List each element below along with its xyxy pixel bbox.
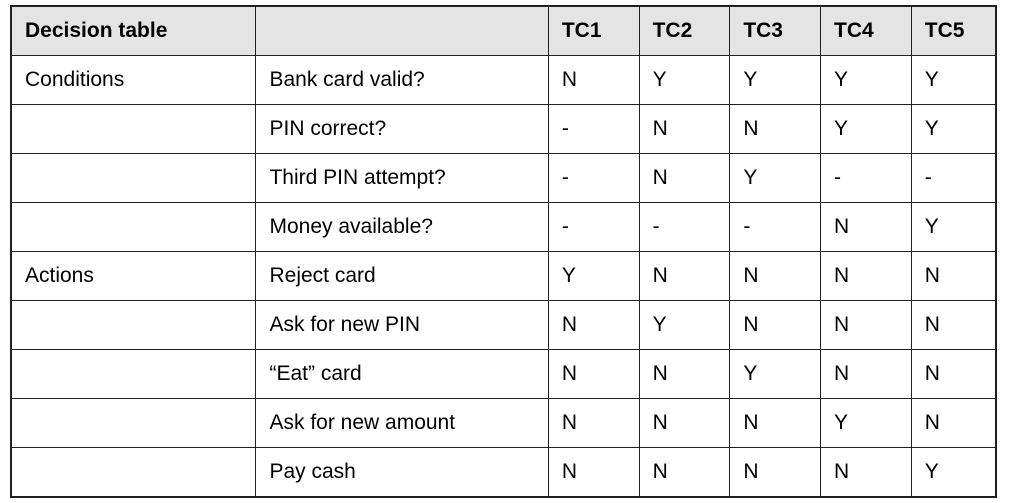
table-row: PIN correct? - N N Y Y [11, 105, 996, 154]
cell-tc3: N [730, 252, 821, 301]
cell-tc4: N [821, 252, 912, 301]
header-row: Decision table TC1 TC2 TC3 TC4 TC5 [11, 6, 996, 56]
row-item-label: PIN correct? [256, 105, 548, 154]
cell-tc5: Y [911, 448, 996, 498]
cell-tc4: Y [821, 105, 912, 154]
cell-tc5: Y [911, 203, 996, 252]
row-group-label [11, 154, 256, 203]
cell-tc5: N [911, 252, 996, 301]
cell-tc3: Y [730, 56, 821, 105]
cell-tc5: N [911, 350, 996, 399]
cell-tc5: N [911, 301, 996, 350]
table-row: Conditions Bank card valid? N Y Y Y Y [11, 56, 996, 105]
table-row: Actions Reject card Y N N N N [11, 252, 996, 301]
table-row: Ask for new PIN N Y N N N [11, 301, 996, 350]
cell-tc1: N [548, 350, 639, 399]
cell-tc2: N [639, 350, 730, 399]
cell-tc1: N [548, 448, 639, 498]
row-item-label: Bank card valid? [256, 56, 548, 105]
table-row: Ask for new amount N N N Y N [11, 399, 996, 448]
cell-tc3: N [730, 301, 821, 350]
cell-tc2: N [639, 399, 730, 448]
table-row: “Eat” card N N Y N N [11, 350, 996, 399]
cell-tc3: N [730, 448, 821, 498]
cell-tc2: - [639, 203, 730, 252]
row-group-label: Conditions [11, 56, 256, 105]
cell-tc4: N [821, 350, 912, 399]
cell-tc4: Y [821, 399, 912, 448]
row-group-label [11, 448, 256, 498]
cell-tc5: - [911, 154, 996, 203]
cell-tc1: Y [548, 252, 639, 301]
header-cell-tc4: TC4 [821, 6, 912, 56]
cell-tc2: N [639, 154, 730, 203]
row-group-label [11, 350, 256, 399]
row-item-label: “Eat” card [256, 350, 548, 399]
table-row: Money available? - - - N Y [11, 203, 996, 252]
cell-tc2: Y [639, 56, 730, 105]
header-cell-tc5: TC5 [911, 6, 996, 56]
cell-tc1: - [548, 105, 639, 154]
cell-tc1: - [548, 154, 639, 203]
row-item-label: Ask for new PIN [256, 301, 548, 350]
cell-tc3: - [730, 203, 821, 252]
table-row: Third PIN attempt? - N Y - - [11, 154, 996, 203]
header-cell-item [256, 6, 548, 56]
cell-tc3: Y [730, 350, 821, 399]
cell-tc1: N [548, 301, 639, 350]
cell-tc2: N [639, 448, 730, 498]
cell-tc2: N [639, 252, 730, 301]
row-item-label: Money available? [256, 203, 548, 252]
cell-tc5: Y [911, 56, 996, 105]
cell-tc3: N [730, 399, 821, 448]
header-cell-tc1: TC1 [548, 6, 639, 56]
table-body: Conditions Bank card valid? N Y Y Y Y PI… [11, 56, 996, 498]
cell-tc1: N [548, 399, 639, 448]
row-group-label [11, 399, 256, 448]
row-group-label: Actions [11, 252, 256, 301]
cell-tc4: N [821, 448, 912, 498]
table-row: Pay cash N N N N Y [11, 448, 996, 498]
row-item-label: Reject card [256, 252, 548, 301]
header-cell-tc3: TC3 [730, 6, 821, 56]
cell-tc5: Y [911, 105, 996, 154]
row-group-label [11, 301, 256, 350]
decision-table: Decision table TC1 TC2 TC3 TC4 TC5 Condi… [10, 5, 997, 498]
cell-tc4: N [821, 203, 912, 252]
cell-tc5: N [911, 399, 996, 448]
row-group-label [11, 105, 256, 154]
row-item-label: Pay cash [256, 448, 548, 498]
cell-tc1: N [548, 56, 639, 105]
cell-tc2: Y [639, 301, 730, 350]
row-item-label: Ask for new amount [256, 399, 548, 448]
header-cell-tc2: TC2 [639, 6, 730, 56]
cell-tc4: - [821, 154, 912, 203]
row-item-label: Third PIN attempt? [256, 154, 548, 203]
decision-table-container: Decision table TC1 TC2 TC3 TC4 TC5 Condi… [10, 5, 997, 498]
row-group-label [11, 203, 256, 252]
cell-tc4: N [821, 301, 912, 350]
cell-tc3: N [730, 105, 821, 154]
cell-tc1: - [548, 203, 639, 252]
table-header: Decision table TC1 TC2 TC3 TC4 TC5 [11, 6, 996, 56]
header-cell-decision-table: Decision table [11, 6, 256, 56]
cell-tc4: Y [821, 56, 912, 105]
cell-tc3: Y [730, 154, 821, 203]
cell-tc2: N [639, 105, 730, 154]
